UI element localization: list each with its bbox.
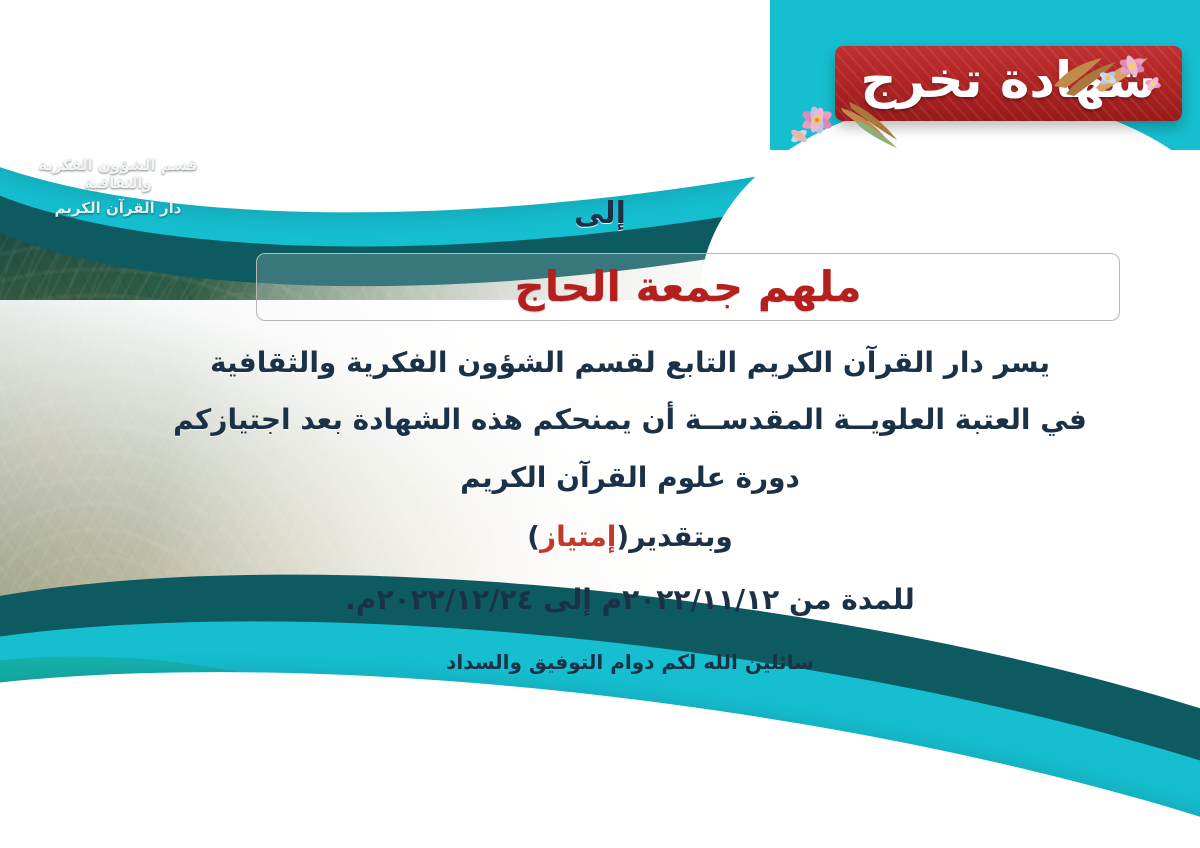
grade-prefix: وبتقدير( [616,520,732,553]
body-line-1: يسر دار القرآن الكريم التابع لقسم الشؤون… [120,348,1140,377]
duration-to-date: ٢٠٢٢/١٢/٢٤م [356,583,534,616]
grade-line: وبتقدير(إمتياز) [120,520,1140,553]
shrine-emblem-icon: ع [18,26,218,130]
recipient-to-label: إلى [0,196,1200,231]
closing-blessing-line: سائلين الله لكم دوام التوفيق والسداد [120,650,1140,674]
recipient-name: ملهم جمعة الحاج [514,266,861,308]
duration-from-date: ٢٠٢٢/١١/١٢م [602,583,780,616]
certificate-title-block: شهادة تخرج [835,46,1182,121]
logo-department-line: قسم الشؤون الفكرية والثقافية [18,156,218,192]
certificate-body: يسر دار القرآن الكريم التابع لقسم الشؤون… [120,348,1140,674]
duration-line: للمدة من ٢٠٢٢/١١/١٢م إلى ٢٠٢٢/١٢/٢٤م. [120,583,1140,616]
duration-prefix: للمدة من [779,583,914,616]
recipient-name-box[interactable]: ملهم جمعة الحاج [256,253,1120,321]
certificate-title-badge: شهادة تخرج [835,46,1182,121]
certificate-canvas: ع قسم الشؤون الفكرية والثقافية دار القرآ… [0,0,1200,848]
grade-suffix: ) [527,520,540,553]
duration-middle: إلى [534,583,602,616]
course-name-line: دورة علوم القرآن الكريم [120,463,1140,492]
duration-suffix: . [345,583,356,616]
body-line-2: في العتبة العلويــة المقدســة أن يمنحكم … [120,405,1140,434]
institution-logo-block: ع قسم الشؤون الفكرية والثقافية دار القرآ… [18,26,218,217]
grade-value: إمتياز [540,520,616,553]
svg-text:ع: ع [116,69,121,78]
